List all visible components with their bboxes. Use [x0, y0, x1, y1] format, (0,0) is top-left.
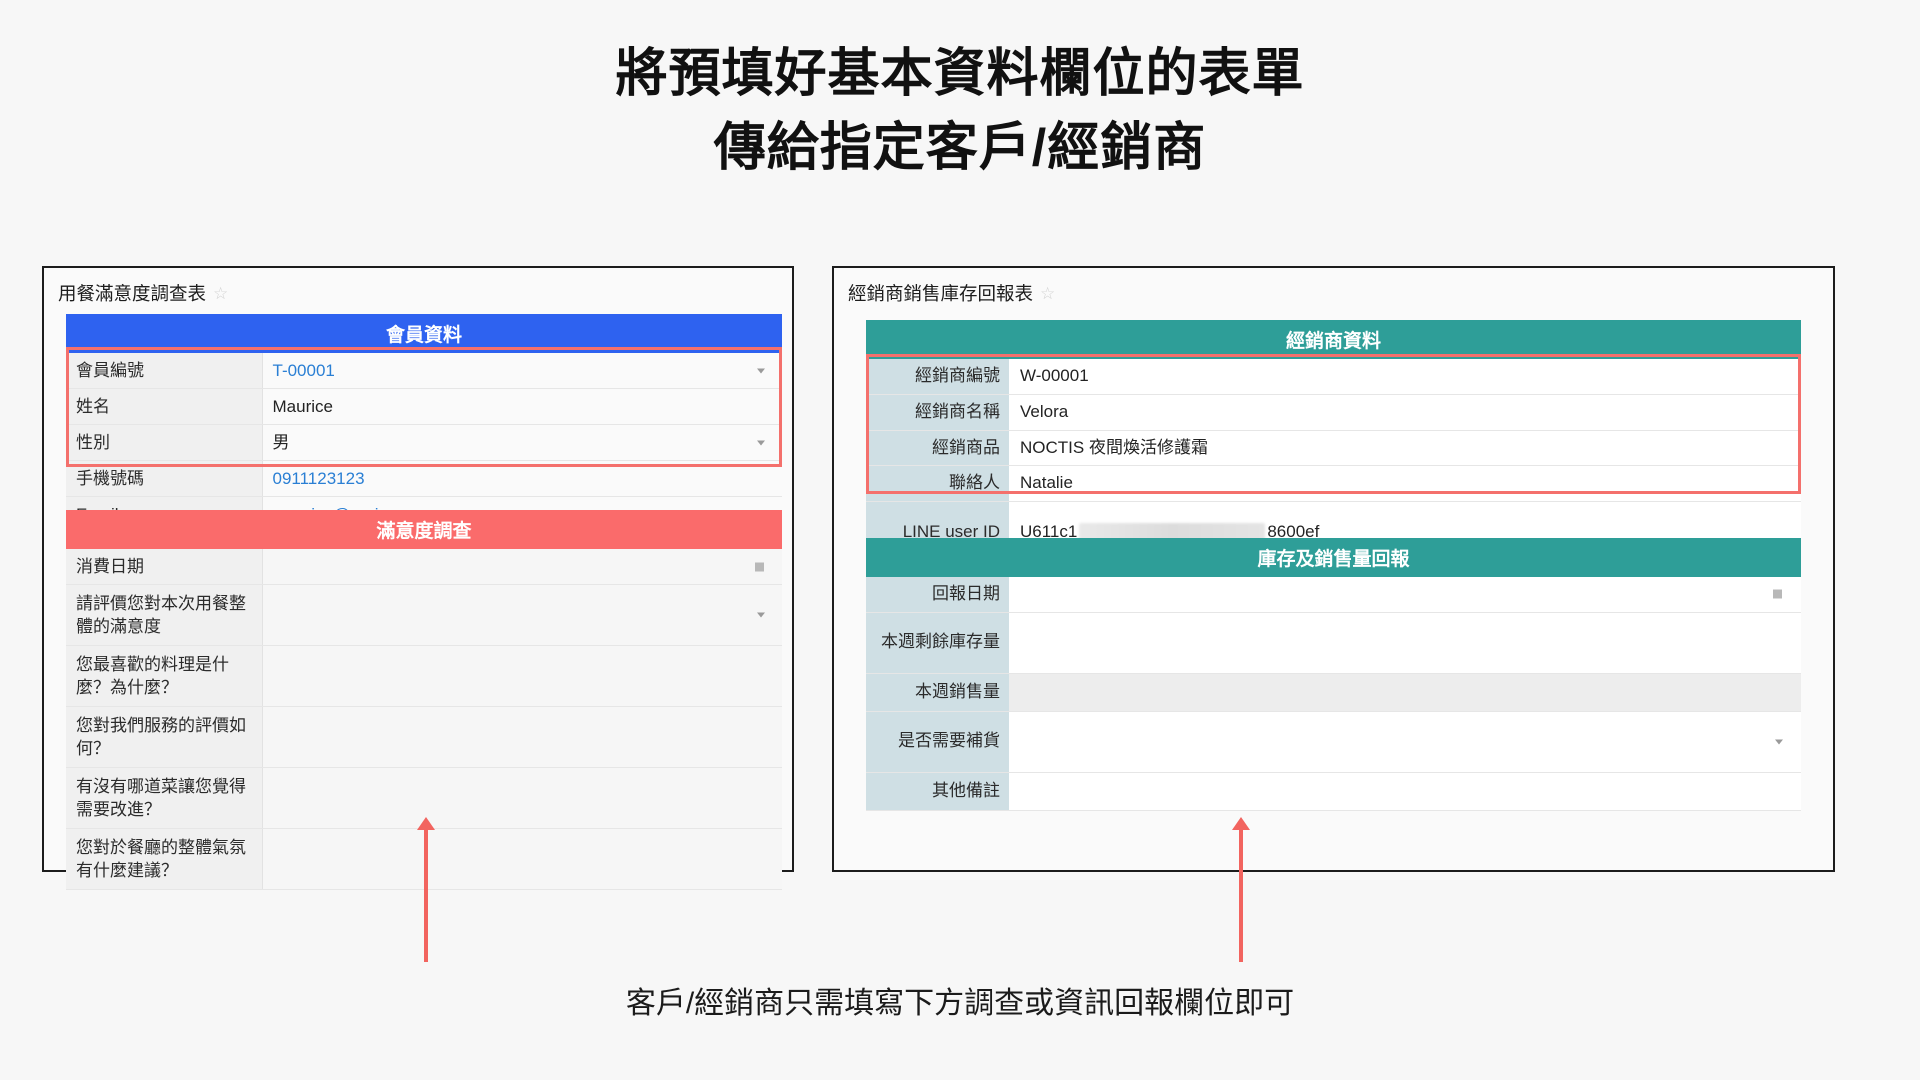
section-inventory-report: 庫存及銷售量回報 回報日期 本週剩餘庫存量 本週銷售量 是否需要補: [866, 538, 1801, 811]
row-label: 其他備註: [866, 772, 1009, 810]
table-row[interactable]: 您最喜歡的料理是什麼？為什麼？: [66, 646, 782, 707]
row-label: 消費日期: [66, 549, 262, 585]
left-form-card: 用餐滿意度調查表☆ 會員資料 會員編號 T-00001 姓名: [42, 266, 794, 872]
row-value[interactable]: [262, 829, 782, 890]
row-value[interactable]: Natalie: [1009, 466, 1801, 502]
arrow-up-left: [424, 828, 428, 962]
row-label: 經銷商品: [866, 430, 1009, 466]
row-value[interactable]: 男: [262, 425, 782, 461]
table-row[interactable]: 本週銷售量: [866, 673, 1801, 711]
table-row[interactable]: 本週剩餘庫存量: [866, 612, 1801, 673]
row-value[interactable]: [1009, 577, 1801, 612]
row-value[interactable]: [262, 707, 782, 768]
row-value[interactable]: [1009, 673, 1801, 711]
section-header-inventory-report: 庫存及銷售量回報: [866, 538, 1801, 577]
left-form-title: 用餐滿意度調查表☆: [58, 280, 228, 306]
row-label: 有沒有哪道菜讓您覺得需要改進？: [66, 768, 262, 829]
row-value-text: 0911123123: [273, 469, 365, 488]
table-row[interactable]: 是否需要補貨: [866, 711, 1801, 772]
row-label: 性別: [66, 425, 262, 461]
row-value-text: Velora: [1020, 402, 1068, 421]
row-value[interactable]: NOCTIS 夜間煥活修護霜: [1009, 430, 1801, 466]
table-row[interactable]: 性別 男: [66, 425, 782, 461]
row-value-text: 男: [273, 433, 290, 452]
section-dealer-data: 經銷商資料 經銷商編號 W-00001 經銷商名稱 Velora 經銷商品: [866, 320, 1801, 563]
chevron-down-icon[interactable]: [1775, 739, 1783, 744]
section-header-dealer-data: 經銷商資料: [866, 320, 1801, 359]
table-row[interactable]: 聯絡人 Natalie: [866, 466, 1801, 502]
favorite-star-icon[interactable]: ☆: [1040, 284, 1055, 304]
table-row[interactable]: 消費日期: [66, 549, 782, 585]
right-form-card: 經銷商銷售庫存回報表☆ 經銷商資料 經銷商編號 W-00001 經銷商名稱 Ve…: [832, 266, 1835, 872]
calendar-icon[interactable]: [755, 562, 764, 571]
row-label: 經銷商編號: [866, 359, 1009, 394]
row-value-text: Natalie: [1020, 473, 1073, 492]
row-label: 會員編號: [66, 353, 262, 389]
row-label: 姓名: [66, 389, 262, 425]
page-title: 將預填好基本資料欄位的表單 傳給指定客戶/經銷商: [0, 38, 1920, 186]
row-label: 您最喜歡的料理是什麼？為什麼？: [66, 646, 262, 707]
left-form-title-text: 用餐滿意度調查表: [58, 283, 206, 304]
chevron-down-icon[interactable]: [757, 440, 765, 445]
row-value-text: Maurice: [273, 397, 333, 416]
right-form-title: 經銷商銷售庫存回報表☆: [848, 280, 1055, 306]
row-label: 請評價您對本次用餐整體的滿意度: [66, 585, 262, 646]
row-value[interactable]: Velora: [1009, 394, 1801, 430]
row-value[interactable]: [1009, 772, 1801, 810]
table-row[interactable]: 回報日期: [866, 577, 1801, 612]
row-label: 是否需要補貨: [866, 711, 1009, 772]
row-value[interactable]: [262, 768, 782, 829]
right-form-title-text: 經銷商銷售庫存回報表: [848, 283, 1033, 304]
row-label: 回報日期: [866, 577, 1009, 612]
dealer-data-rows: 經銷商編號 W-00001 經銷商名稱 Velora 經銷商品 NOCTIS 夜…: [866, 359, 1801, 563]
table-row[interactable]: 請評價您對本次用餐整體的滿意度: [66, 585, 782, 646]
table-row[interactable]: 經銷商名稱 Velora: [866, 394, 1801, 430]
row-value-text: T-00001: [273, 361, 335, 380]
section-header-member-data: 會員資料: [66, 314, 782, 353]
row-value[interactable]: [262, 646, 782, 707]
slide-canvas: 將預填好基本資料欄位的表單 傳給指定客戶/經銷商 用餐滿意度調查表☆ 會員資料 …: [0, 0, 1920, 1080]
favorite-star-icon[interactable]: ☆: [213, 284, 228, 304]
row-label: 本週銷售量: [866, 673, 1009, 711]
chevron-down-icon[interactable]: [757, 368, 765, 373]
row-value[interactable]: 0911123123: [262, 461, 782, 497]
section-member-data: 會員資料 會員編號 T-00001 姓名 Maurice: [66, 314, 782, 534]
section-header-satisfaction-survey: 滿意度調查: [66, 510, 782, 549]
calendar-icon[interactable]: [1773, 590, 1782, 599]
row-label: 您對於餐廳的整體氣氛有什麼建議？: [66, 829, 262, 890]
row-label: 經銷商名稱: [866, 394, 1009, 430]
row-value-text: NOCTIS 夜間煥活修護霜: [1020, 438, 1208, 457]
row-label: 本週剩餘庫存量: [866, 612, 1009, 673]
row-value[interactable]: [262, 549, 782, 585]
table-row[interactable]: 會員編號 T-00001: [66, 353, 782, 389]
page-title-line-1: 將預填好基本資料欄位的表單: [0, 38, 1920, 112]
row-value[interactable]: T-00001: [262, 353, 782, 389]
page-title-line-2: 傳給指定客戶/經銷商: [0, 112, 1920, 186]
chevron-down-icon[interactable]: [757, 613, 765, 618]
row-label: 聯絡人: [866, 466, 1009, 502]
row-value[interactable]: [262, 585, 782, 646]
table-row[interactable]: 姓名 Maurice: [66, 389, 782, 425]
row-value-text: W-00001: [1020, 366, 1089, 385]
table-row[interactable]: 經銷商品 NOCTIS 夜間煥活修護霜: [866, 430, 1801, 466]
inventory-report-rows: 回報日期 本週剩餘庫存量 本週銷售量 是否需要補貨: [866, 577, 1801, 811]
row-value[interactable]: Maurice: [262, 389, 782, 425]
row-value[interactable]: [1009, 711, 1801, 772]
table-row[interactable]: 手機號碼 0911123123: [66, 461, 782, 497]
table-row[interactable]: 您對我們服務的評價如何？: [66, 707, 782, 768]
member-data-rows: 會員編號 T-00001 姓名 Maurice 性別: [66, 353, 782, 534]
row-value[interactable]: W-00001: [1009, 359, 1801, 394]
row-label: 手機號碼: [66, 461, 262, 497]
row-label: 您對我們服務的評價如何？: [66, 707, 262, 768]
footer-caption: 客戶/經銷商只需填寫下方調查或資訊回報欄位即可: [0, 978, 1920, 1022]
row-value[interactable]: [1009, 612, 1801, 673]
arrow-up-right: [1239, 828, 1243, 962]
table-row[interactable]: 其他備註: [866, 772, 1801, 810]
table-row[interactable]: 經銷商編號 W-00001: [866, 359, 1801, 394]
